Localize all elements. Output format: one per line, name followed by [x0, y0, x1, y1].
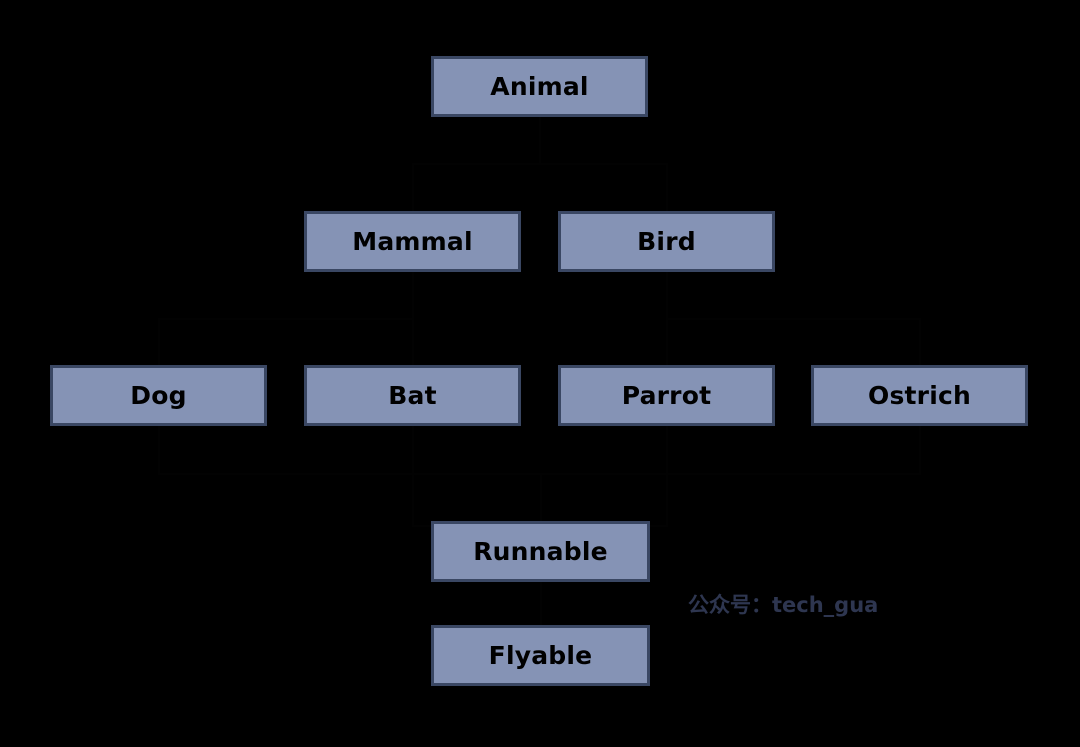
connector-bird-parrot	[666, 319, 668, 366]
connector-bat-runnable	[412, 473, 542, 475]
connector-mammal-dog	[158, 319, 160, 366]
node-ostrich[interactable]: Ostrich	[811, 365, 1028, 426]
connector-bird-ostrich	[666, 272, 668, 319]
node-parrot[interactable]: Parrot	[558, 365, 775, 426]
connector-ostrich-runnable	[540, 473, 921, 475]
connector-dog-runnable	[158, 426, 160, 474]
node-animal[interactable]: Animal	[431, 56, 648, 117]
node-bird[interactable]: Bird	[558, 211, 775, 272]
connector-ostrich-runnable	[919, 426, 921, 474]
node-label: Dog	[130, 383, 186, 408]
connector-animal-mammal	[412, 163, 541, 165]
node-runnable[interactable]: Runnable	[431, 521, 650, 582]
node-label: Bat	[388, 383, 436, 408]
node-label: Flyable	[489, 643, 593, 668]
connector-mammal-bat	[412, 319, 414, 366]
connector-parrot-flyable	[666, 426, 668, 526]
connector-ostrich-runnable	[540, 474, 542, 522]
connector-bat-flyable	[412, 426, 414, 526]
connector-animal-bird	[666, 164, 668, 211]
node-mammal[interactable]: Mammal	[304, 211, 521, 272]
connector-animal-bird	[539, 163, 668, 165]
node-flyable[interactable]: Flyable	[431, 625, 650, 686]
connector-mammal-dog	[158, 318, 414, 320]
connector-mammal-bat	[412, 272, 414, 319]
node-label: Bird	[637, 229, 696, 254]
watermark-label: 公众号：tech_gua	[688, 595, 878, 616]
node-label: Runnable	[473, 539, 608, 564]
node-dog[interactable]: Dog	[50, 365, 267, 426]
connector-animal-bird	[539, 117, 541, 164]
node-bat[interactable]: Bat	[304, 365, 521, 426]
node-label: Ostrich	[868, 383, 971, 408]
node-label: Parrot	[622, 383, 712, 408]
node-label: Mammal	[352, 229, 473, 254]
diagram-canvas: AnimalMammalBirdDogBatParrotOstrichRunna…	[0, 0, 1080, 747]
connector-bird-ostrich	[919, 319, 921, 366]
connector-animal-mammal	[412, 164, 414, 211]
connector-bird-ostrich	[666, 318, 921, 320]
node-label: Animal	[490, 74, 588, 99]
